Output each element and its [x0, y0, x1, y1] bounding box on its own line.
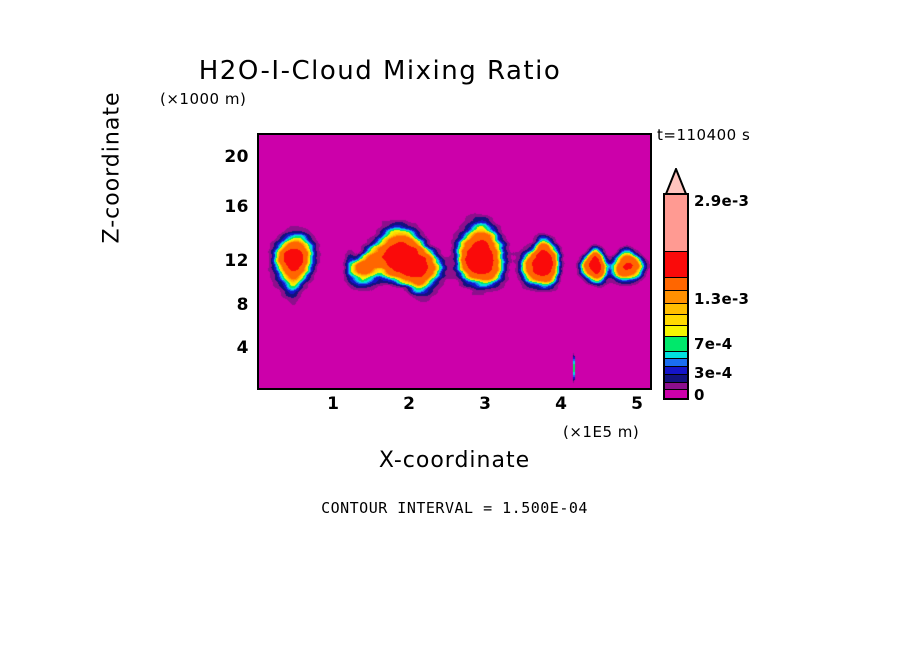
y-tick-8: 8	[209, 295, 249, 315]
z-axis-unit-label: (×1000 m)	[160, 90, 246, 108]
colorbar-label-1p3: 1.3e-3	[694, 290, 749, 308]
colorbar-label-zero: 0	[694, 386, 705, 404]
colorbar-label-max: 2.9e-3	[694, 192, 749, 210]
x-tick-2: 2	[389, 394, 429, 414]
colorbar-labels: 2.9e-3 1.3e-3 7e-4 3e-4 0	[694, 168, 814, 408]
y-axis-ticks: 20 16 12 8 4	[203, 133, 249, 390]
x-tick-5: 5	[617, 394, 657, 414]
x-tick-4: 4	[541, 394, 581, 414]
y-axis-title: Z-coordinate	[100, 38, 125, 298]
colorbar-band-0	[665, 195, 687, 252]
x-tick-3: 3	[465, 394, 505, 414]
x-tick-1: 1	[313, 394, 353, 414]
x-axis-unit-label: (×1E5 m)	[563, 423, 639, 441]
colorbar-band-4	[665, 304, 687, 315]
time-stamp-label: t=110400 s	[657, 126, 750, 144]
y-tick-4: 4	[209, 338, 249, 358]
colorbar-label-3e4: 3e-4	[694, 364, 732, 382]
colorbar-band-3	[665, 291, 687, 304]
colorbar-band-12	[665, 383, 687, 390]
colorbar-band-11	[665, 375, 687, 383]
y-tick-20: 20	[209, 147, 249, 167]
contour-interval-caption: CONTOUR INTERVAL = 1.500E-04	[157, 499, 752, 517]
colorbar	[663, 168, 689, 400]
colorbar-band-1	[665, 252, 687, 278]
colorbar-label-7e4: 7e-4	[694, 335, 732, 353]
y-tick-16: 16	[209, 197, 249, 217]
colorbar-band-7	[665, 337, 687, 351]
x-axis-title: X-coordinate	[257, 448, 652, 473]
contour-field-canvas	[259, 135, 650, 388]
colorbar-band-5	[665, 315, 687, 326]
colorbar-bands	[663, 193, 689, 400]
colorbar-band-10	[665, 367, 687, 375]
y-tick-12: 12	[209, 251, 249, 271]
colorbar-arrow-icon	[663, 168, 689, 194]
colorbar-band-9	[665, 359, 687, 367]
colorbar-band-8	[665, 352, 687, 359]
colorbar-band-6	[665, 326, 687, 337]
x-axis-ticks: 1 2 3 4 5	[257, 394, 652, 418]
figure-canvas: H2O-I-Cloud Mixing Ratio (×1000 m) Z-coo…	[0, 0, 904, 654]
colorbar-band-2	[665, 278, 687, 291]
colorbar-band-13	[665, 390, 687, 398]
contour-plot-area	[257, 133, 652, 390]
